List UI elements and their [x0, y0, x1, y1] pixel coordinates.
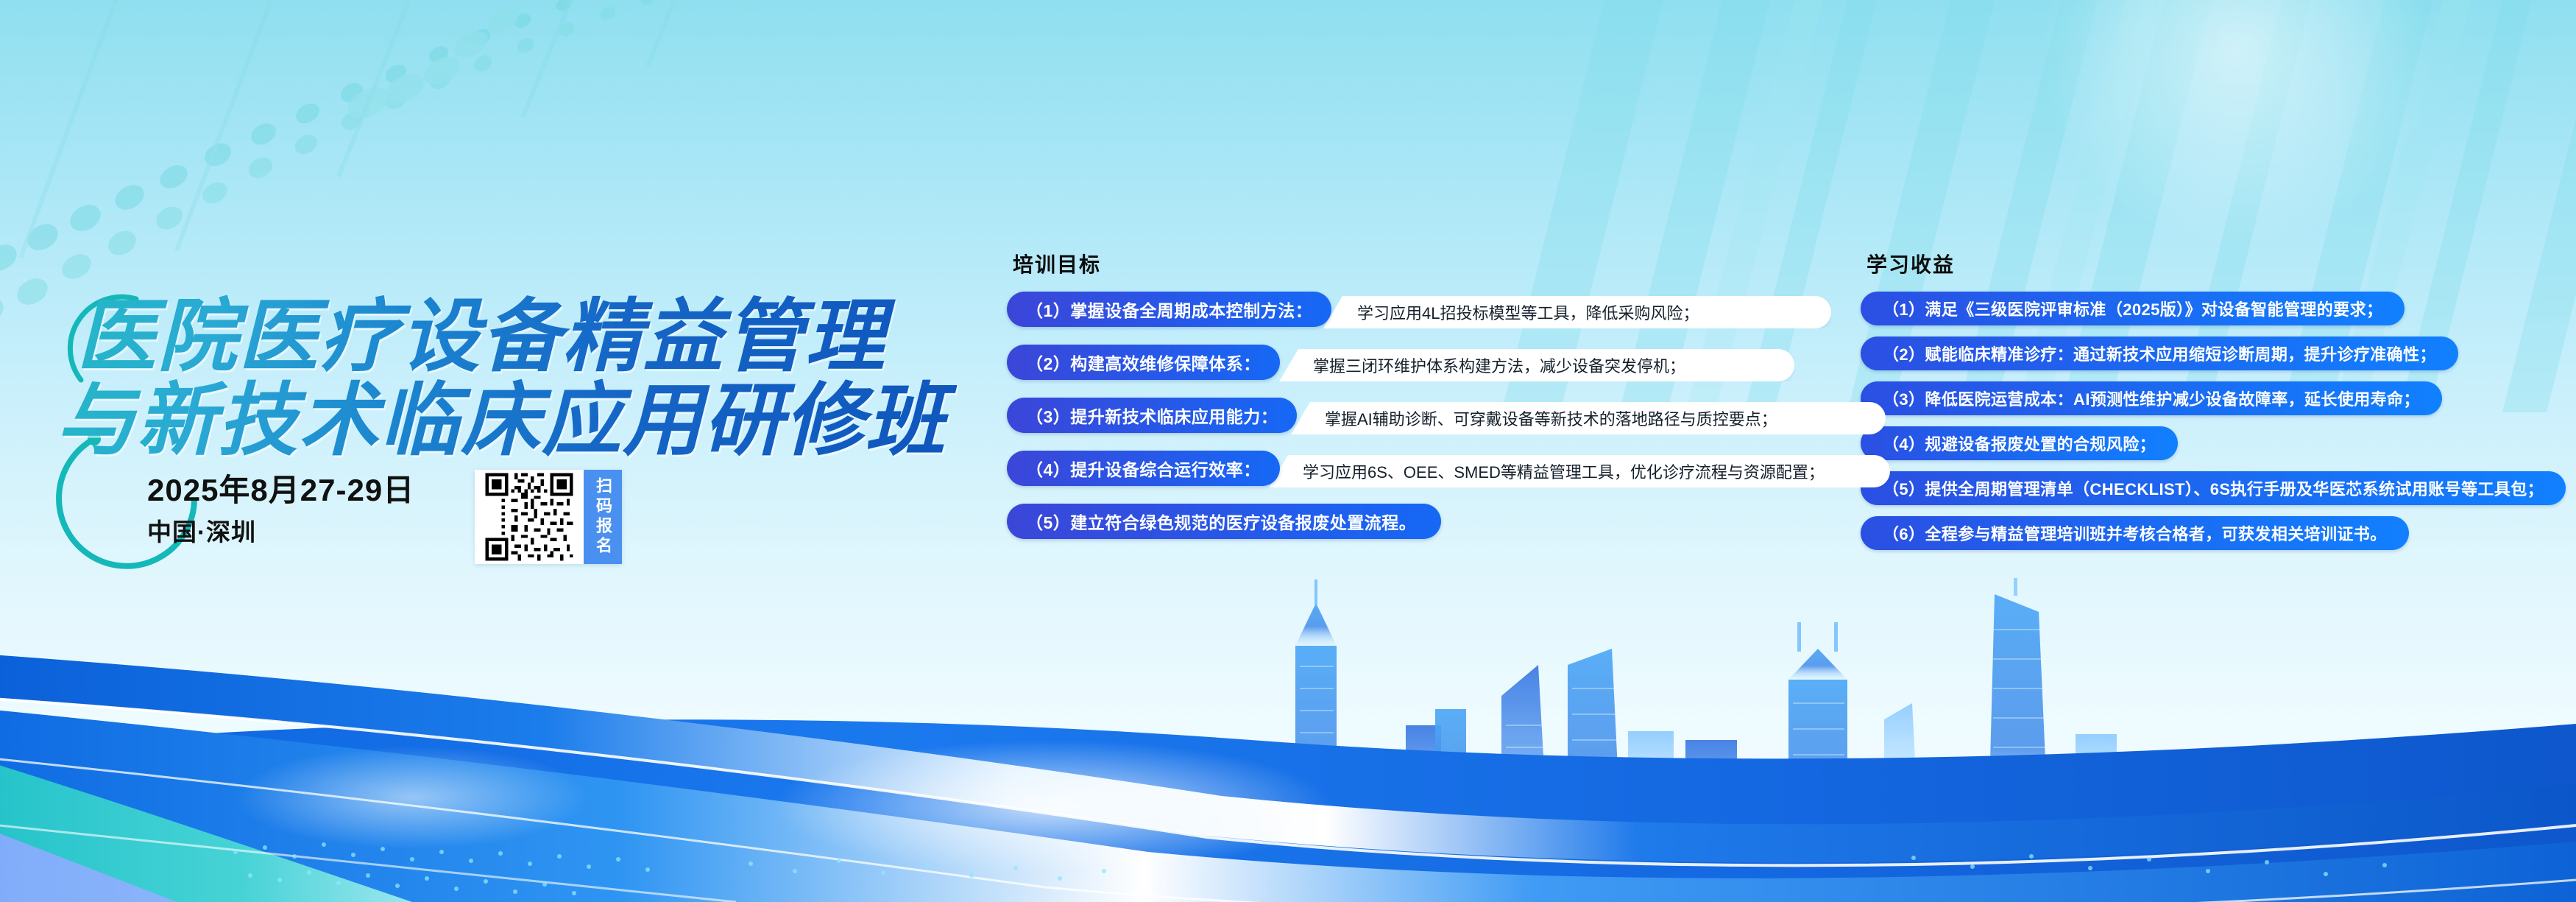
title-line-2: 与新技术临床应用研修班: [56, 378, 957, 462]
benefit-item[interactable]: （5）提供全周期管理清单（CHECKLIST）、6S执行手册及华医芯系统试用账号…: [1861, 471, 2566, 505]
objective-number: （2）: [1026, 350, 1070, 375]
objective-detail: 掌握AI辅助诊断、可穿戴设备等新技术的落地路径与质控要点；: [1291, 402, 1886, 434]
objective-title: 掌握设备全周期成本控制方法：: [1070, 297, 1312, 322]
benefit-item[interactable]: （2）赋能临床精准诊疗：通过新技术应用缩短诊断周期，提升诊疗准确性；: [1861, 337, 2458, 370]
qr-label: 扫码报名: [595, 477, 611, 557]
benefit-item[interactable]: （3）降低医院运营成本：AI预测性维护减少设备故障率，延长使用寿命；: [1861, 381, 2442, 415]
objective-item[interactable]: （5） 建立符合绿色规范的医疗设备报废处置流程。: [1007, 504, 1780, 546]
objectives-column: 培训目标 学习应用4L招投标模型等工具，降低采购风险； （1） 掌握设备全周期成…: [1007, 249, 1780, 557]
objective-label: （1） 掌握设备全周期成本控制方法：: [1007, 292, 1331, 327]
qr-label-strip: 扫码报名: [584, 470, 622, 564]
objective-label: （5） 建立符合绿色规范的医疗设备报废处置流程。: [1007, 504, 1441, 539]
city-skyline-icon: [1052, 578, 2451, 902]
objective-number: （3）: [1026, 403, 1070, 428]
benefit-item[interactable]: （4）规避设备报废处置的合规风险；: [1861, 426, 2178, 460]
wave-ribbons-icon: [0, 563, 2576, 902]
objective-title: 提升新技术临床应用能力：: [1070, 403, 1278, 428]
objective-item[interactable]: 掌握三闭环维护体系构建方法，减少设备突发停机； （2） 构建高效维修保障体系：: [1007, 345, 1780, 387]
event-date: 2025年8月27-29日: [147, 465, 414, 510]
benefits-heading: 学习收益: [1866, 249, 2530, 278]
objective-number: （1）: [1026, 297, 1070, 322]
benefit-item[interactable]: （1）满足《三级医院评审标准（2025版）》对设备智能管理的要求；: [1861, 292, 2405, 325]
top-right-glow: [2031, 0, 2444, 258]
title-line-1: 医院医疗设备精益管理: [77, 295, 957, 378]
qr-code-icon[interactable]: [475, 470, 584, 564]
objective-label: （3） 提升新技术临床应用能力：: [1007, 398, 1297, 433]
objective-detail: 掌握三闭环维护体系构建方法，减少设备突发停机；: [1279, 349, 1794, 381]
page-title: 医院医疗设备精益管理 与新技术临床应用研修班: [52, 295, 957, 463]
objective-number: （5）: [1026, 509, 1070, 534]
objective-number: （4）: [1026, 456, 1070, 481]
benefits-column: 学习收益 （1）满足《三级医院评审标准（2025版）》对设备智能管理的要求； （…: [1861, 249, 2530, 561]
objective-title: 构建高效维修保障体系：: [1070, 350, 1261, 375]
registration-qr-block[interactable]: 扫码报名: [475, 470, 622, 564]
objective-item[interactable]: 学习应用6S、OEE、SMED等精益管理工具，优化诊疗流程与资源配置； （4） …: [1007, 451, 1780, 493]
objective-item[interactable]: 掌握AI辅助诊断、可穿戴设备等新技术的落地路径与质控要点； （3） 提升新技术临…: [1007, 398, 1780, 440]
objective-detail: 学习应用4L招投标模型等工具，降低采购风险；: [1323, 296, 1831, 328]
conference-banner: 医院医疗设备精益管理 与新技术临床应用研修班 2025年8月27-29日 中国·…: [0, 0, 2576, 902]
benefit-item[interactable]: （6）全程参与精益管理培训班并考核合格者，可获发相关培训证书。: [1861, 516, 2409, 550]
objective-title: 建立符合绿色规范的医疗设备报废处置流程。: [1070, 509, 1416, 534]
objective-label: （4） 提升设备综合运行效率：: [1007, 451, 1280, 486]
objective-detail: 学习应用6S、OEE、SMED等精益管理工具，优化诊疗流程与资源配置；: [1269, 455, 1890, 487]
objectives-heading: 培训目标: [1013, 249, 1780, 278]
event-location: 中国·深圳: [147, 512, 256, 548]
objective-title: 提升设备综合运行效率：: [1070, 456, 1261, 481]
objective-label: （2） 构建高效维修保障体系：: [1007, 345, 1280, 380]
objective-item[interactable]: 学习应用4L招投标模型等工具，降低采购风险； （1） 掌握设备全周期成本控制方法…: [1007, 292, 1780, 334]
